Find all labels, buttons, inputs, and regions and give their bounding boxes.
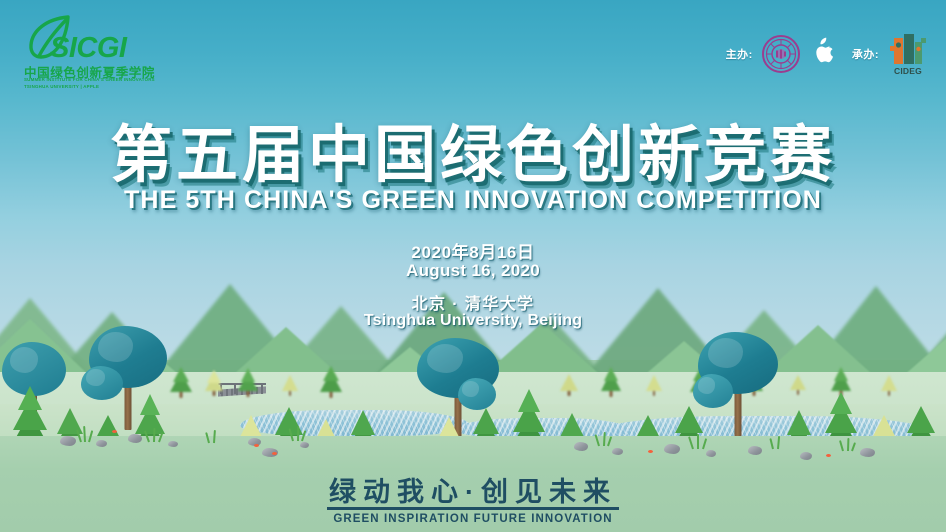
- apple-logo[interactable]: [809, 36, 839, 72]
- slogan-block: 绿动我心·创见未来 GREEN INSPIRATION FUTURE INNOV…: [0, 478, 946, 525]
- tsinghua-university-seal[interactable]: [762, 35, 800, 73]
- slogan-cn: 绿动我心·创见未来: [327, 478, 619, 510]
- event-venue-cn: 北京 · 清华大学: [0, 290, 946, 314]
- slogan-en: GREEN INSPIRATION FUTURE INNOVATION: [0, 513, 946, 525]
- poster-canvas: SICGI 中国绿色创新夏季学院 SUMMER INSTITUTE FOR CH…: [0, 0, 946, 532]
- sicgi-logo[interactable]: SICGI 中国绿色创新夏季学院 SUMMER INSTITUTE FOR CH…: [22, 14, 172, 86]
- page-title-en: THE 5TH CHINA'S GREEN INNOVATION COMPETI…: [0, 186, 946, 215]
- event-date-cn: 2020年8月16日: [0, 238, 946, 263]
- sicgi-name-en-line1: SUMMER INSTITUTE FOR CHINA'S GREEN INNOV…: [24, 77, 155, 82]
- foreground-undergrowth: [0, 424, 946, 464]
- sponsor-bar: 主办:: [726, 30, 928, 78]
- sicgi-name-en-line2: TSINGHUA UNIVERSITY | APPLE: [24, 84, 99, 89]
- event-venue-en: Tsinghua University, Beijing: [0, 312, 946, 330]
- cideg-logo[interactable]: CIDEG: [888, 32, 928, 76]
- event-date-en: August 16, 2020: [0, 261, 946, 281]
- cideg-wordmark: CIDEG: [888, 66, 928, 76]
- page-title-cn: 第五届中国绿色创新竞赛: [0, 104, 946, 194]
- host-label: 主办:: [726, 46, 753, 62]
- organizer-label: 承办:: [852, 46, 879, 62]
- sicgi-wordmark: SICGI: [50, 32, 126, 65]
